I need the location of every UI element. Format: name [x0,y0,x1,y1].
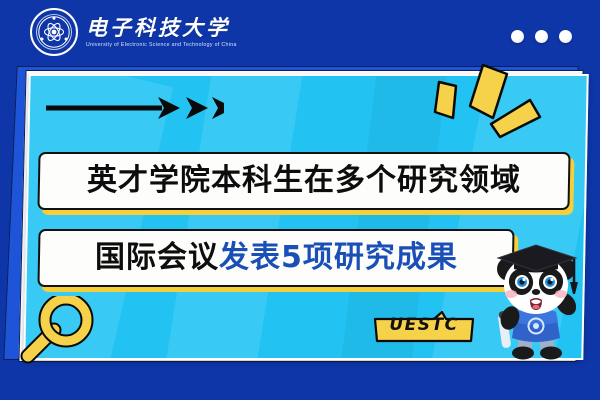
magnifying-glass-icon [18,296,96,371]
long-arrow-right-icon [44,95,224,126]
headline-line2-blue-text: 发表5项研究成果 [219,240,458,275]
university-name-cn: 电子科技大学 [86,16,237,39]
decorative-dots [511,30,572,43]
yellow-burst-shape [432,78,462,127]
headline-box-line1: 英才学院本科生在多个研究领域 [37,152,570,210]
headline-line1-text: 英才学院本科生在多个研究领域 [87,166,521,196]
university-name-en: University of Electronic Science and Tec… [86,42,237,48]
dot-icon [535,30,548,43]
university-branding: 电子科技大学 University of Electronic Science … [30,8,237,56]
headline-line2-black-text: 国际会议 [95,240,219,275]
headline-box-line2: 国际会议发表5项研究成果 [37,229,514,287]
panda-graduate-mascot [482,232,590,367]
university-name-block: 电子科技大学 University of Electronic Science … [86,16,237,48]
poster-header: 电子科技大学 University of Electronic Science … [0,0,600,62]
uestc-seal-icon [30,8,78,56]
yellow-burst-shape [486,96,544,145]
uestc-badge: UESTC [372,311,476,350]
dot-icon [559,30,572,43]
poster-root: 电子科技大学 University of Electronic Science … [0,0,600,400]
dot-icon [511,30,524,43]
headline-line2: 国际会议发表5项研究成果 [95,243,458,273]
uestc-badge-label: UESTC [372,311,476,338]
